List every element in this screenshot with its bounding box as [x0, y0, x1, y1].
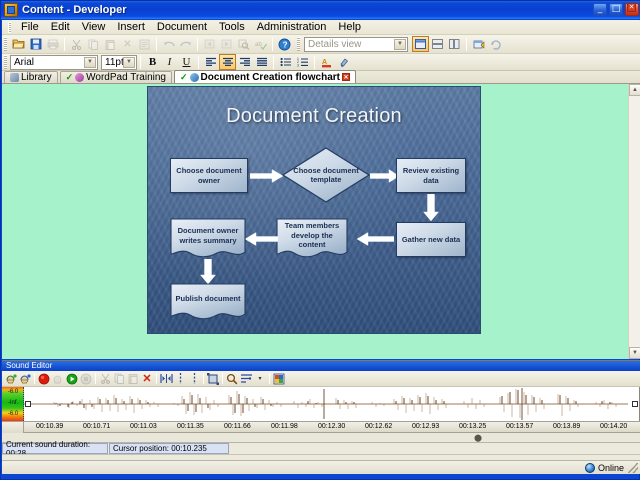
append-sound-icon[interactable] — [18, 372, 32, 386]
sound-toolbar-separator — [156, 373, 157, 384]
refresh-icon — [487, 36, 504, 52]
sound-editor-title: Sound Editor — [2, 361, 640, 371]
toolbar-grip-2[interactable] — [297, 37, 300, 51]
sound-editor-panel: Sound Editor — [2, 360, 640, 460]
flow-node-label: Team members develop the content — [276, 218, 348, 253]
vertical-split-view-icon[interactable] — [446, 36, 463, 52]
insert-marker-icon[interactable] — [173, 372, 187, 386]
align-center-icon[interactable] — [219, 54, 236, 70]
ruler-tick: 00:10.39 — [36, 423, 63, 430]
flow-node-label: Gather new data — [402, 235, 460, 244]
menu-item-tools[interactable]: Tools — [213, 20, 251, 34]
chevron-down-icon[interactable]: ▼ — [84, 57, 96, 68]
flow-node-choose-document-owner[interactable]: Choose document owner — [170, 158, 248, 193]
copy-icon — [112, 372, 126, 386]
menu-item-insert[interactable]: Insert — [111, 20, 151, 34]
back-icon — [201, 36, 218, 52]
undo-icon — [160, 36, 177, 52]
db-label-middle: -Inf. — [2, 400, 24, 406]
ruler-tick: 00:14.20 — [600, 423, 627, 430]
flowchart-title: Document Creation — [148, 105, 480, 128]
tab-library[interactable]: Library — [4, 71, 58, 83]
properties-icon[interactable] — [272, 372, 286, 386]
help-icon[interactable]: ? — [276, 36, 293, 52]
dropdown-icon[interactable]: ▾ — [253, 372, 267, 386]
properties-icon — [136, 36, 153, 52]
flow-node-label: Review existing data — [399, 166, 463, 185]
toolbar-separator — [140, 56, 141, 69]
open-icon[interactable] — [10, 36, 27, 52]
flow-arrow-gather-to-team — [356, 232, 394, 249]
menu-bar: File Edit View Insert Document Tools Adm… — [2, 20, 640, 35]
toolbar-separator — [314, 56, 315, 69]
find-icon — [235, 36, 252, 52]
sound-editor-status: Current sound duration: 00:28 Cursor pos… — [2, 443, 640, 454]
maximize-button[interactable]: □ — [609, 3, 623, 16]
db-label-top: -6.0 — [2, 389, 24, 395]
main-toolbar: ✕ ab ? Details view ▼ — [2, 35, 640, 54]
ruler-tick: 00:12.62 — [365, 423, 392, 430]
toolbar-separator — [273, 56, 274, 69]
bullet-list-icon[interactable] — [277, 54, 294, 70]
library-icon — [10, 73, 19, 82]
flow-node-choose-document-template[interactable]: Choose document template — [282, 147, 370, 203]
record-icon[interactable] — [37, 372, 51, 386]
waveform-display[interactable] — [24, 387, 640, 421]
pause-icon — [51, 372, 65, 386]
flow-node-document-owner-writes-summary[interactable]: Document owner writes summary — [170, 218, 246, 262]
toolbar-separator — [272, 38, 273, 51]
app-icon — [4, 3, 18, 17]
font-family-value: Arial — [14, 57, 34, 68]
copy-icon — [85, 36, 102, 52]
cut-icon — [68, 36, 85, 52]
check-icon: ✓ — [66, 72, 74, 83]
numbered-list-icon[interactable]: 123 — [294, 54, 311, 70]
ruler-tick: 00:11.03 — [130, 423, 157, 430]
redo-icon — [177, 36, 194, 52]
flow-arrow-owner-to-template — [250, 169, 284, 186]
italic-icon[interactable]: I — [161, 54, 178, 70]
flow-node-publish-document[interactable]: Publish document — [170, 283, 246, 323]
ruler-tick: 00:12.30 — [318, 423, 345, 430]
flow-arrow-review-to-gather — [422, 194, 440, 225]
svg-text:A: A — [322, 59, 327, 66]
save-icon[interactable] — [27, 36, 44, 52]
view-mode-combo[interactable]: Details view ▼ — [304, 37, 408, 52]
content-vertical-scrollbar[interactable]: ▲ ▼ — [628, 84, 640, 359]
marker-list-icon[interactable] — [187, 372, 201, 386]
menu-item-help[interactable]: Help — [332, 20, 367, 34]
stop-icon — [79, 372, 93, 386]
flow-arrow-team-to-summary — [244, 232, 278, 249]
cursor-position-status: Cursor position: 00:10.235 — [109, 443, 229, 454]
document-tab-strip: Library ✓ WordPad Training ✓ Document Cr… — [2, 71, 640, 84]
menu-item-file[interactable]: File — [15, 20, 45, 34]
zoom-icon[interactable] — [225, 372, 239, 386]
view-mode-value: Details view — [308, 39, 361, 50]
bold-icon[interactable]: B — [144, 54, 161, 70]
flowchart-slide: Document Creation Choose document owner … — [147, 86, 481, 334]
print-icon — [44, 36, 61, 52]
sound-editor-toolbar: ✕ ▾ — [2, 371, 640, 387]
format-toolbar-grip[interactable] — [4, 55, 7, 69]
application-status-bar: Online — [2, 460, 640, 474]
paste-icon — [126, 372, 140, 386]
training-icon — [75, 73, 84, 82]
time-ruler[interactable]: 00:10.39 00:10.71 00:11.03 00:11.35 00:1… — [2, 421, 640, 433]
scroll-thumb-icon[interactable]: ⬤ — [472, 433, 484, 443]
close-all-tabs-icon[interactable]: ✕ — [627, 3, 636, 12]
flow-node-label: Publish document — [170, 283, 246, 315]
sound-toolbar-separator — [222, 373, 223, 384]
flow-node-gather-new-data[interactable]: Gather new data — [396, 222, 466, 257]
flow-node-label: Document owner writes summary — [170, 218, 246, 253]
font-color-icon[interactable]: A — [318, 54, 335, 70]
svg-text:3: 3 — [297, 63, 299, 67]
flow-node-team-members-develop-content[interactable]: Team members develop the content — [276, 218, 348, 262]
chevron-down-icon[interactable]: ▼ — [394, 39, 406, 50]
toolbar-separator — [198, 56, 199, 69]
menu-item-edit[interactable]: Edit — [45, 20, 76, 34]
menu-item-document[interactable]: Document — [151, 20, 213, 34]
toolbar-separator — [156, 38, 157, 51]
tab-label: Document Creation flowchart — [201, 72, 340, 83]
tab-document-creation-flowchart[interactable]: ✓ Document Creation flowchart ✕ — [174, 70, 356, 83]
crop-icon[interactable] — [206, 372, 220, 386]
zoom-level-icon[interactable] — [239, 372, 253, 386]
title-bar: Content - Developer _ □ ✕ — [1, 1, 640, 19]
ruler-tick: 00:12.93 — [412, 423, 439, 430]
delete-icon[interactable]: ✕ — [140, 372, 154, 386]
sound-toolbar-separator — [34, 373, 35, 384]
sound-toolbar-separator — [269, 373, 270, 384]
align-left-icon[interactable] — [202, 54, 219, 70]
font-family-combo[interactable]: Arial ▼ — [10, 55, 98, 70]
sound-toolbar-separator — [95, 373, 96, 384]
status-online-label: Online — [598, 463, 624, 473]
toolbar-separator — [466, 38, 467, 51]
scroll-down-icon[interactable]: ▼ — [629, 347, 640, 359]
sound-duration-status: Current sound duration: 00:28 — [2, 443, 108, 454]
tab-close-icon[interactable]: ✕ — [342, 73, 350, 81]
font-size-combo[interactable]: 11pt ▼ — [101, 55, 137, 70]
flowchart-icon — [190, 73, 199, 82]
ruler-tick: 00:11.35 — [177, 423, 204, 430]
minimize-button[interactable]: _ — [593, 3, 607, 16]
spellcheck-icon: ab — [252, 36, 269, 52]
highlight-color-icon[interactable] — [335, 54, 352, 70]
resize-grip[interactable] — [628, 463, 638, 473]
select-all-icon[interactable] — [159, 372, 173, 386]
scroll-up-icon[interactable]: ▲ — [629, 84, 640, 96]
chevron-down-icon[interactable]: ▼ — [123, 57, 135, 68]
tab-label: WordPad Training — [86, 72, 166, 83]
flow-node-label: Choose document template — [282, 147, 370, 203]
selection-start-handle[interactable] — [25, 401, 31, 407]
cut-icon — [98, 372, 112, 386]
toolbar-separator — [197, 38, 198, 51]
horizontal-split-view-icon[interactable] — [429, 36, 446, 52]
insert-sound-icon[interactable] — [4, 372, 18, 386]
menu-item-administration[interactable]: Administration — [251, 20, 333, 34]
properties-window-icon[interactable] — [470, 36, 487, 52]
selection-end-handle[interactable] — [632, 401, 638, 407]
font-size-value: 11pt — [105, 57, 124, 68]
application-window: Content - Developer _ □ ✕ File Edit View… — [0, 0, 640, 480]
menu-grip[interactable] — [8, 22, 11, 33]
formatting-toolbar: Arial ▼ 11pt ▼ B I U 123 — [2, 54, 640, 71]
svg-text:?: ? — [283, 40, 288, 49]
tab-wordpad-training[interactable]: ✓ WordPad Training — [60, 71, 172, 83]
forward-icon — [218, 36, 235, 52]
ruler-tick: 00:11.98 — [271, 423, 298, 430]
status-badge: Online — [585, 463, 624, 473]
ruler-tick: 00:13.57 — [506, 423, 533, 430]
sound-toolbar-separator — [203, 373, 204, 384]
check-icon: ✓ — [180, 72, 188, 83]
play-icon[interactable] — [65, 372, 79, 386]
globe-icon — [585, 463, 595, 473]
align-justify-icon[interactable] — [253, 54, 270, 70]
ruler-tick: 00:13.89 — [553, 423, 580, 430]
tab-label: Library — [21, 72, 52, 83]
paste-icon — [102, 36, 119, 52]
align-right-icon[interactable] — [236, 54, 253, 70]
waveform-graphic — [24, 387, 628, 421]
toolbar-separator — [64, 38, 65, 51]
db-level-meter: -6.0 -Inf. -6.0 — [2, 387, 24, 421]
toolbar-grip[interactable] — [4, 37, 7, 51]
ruler-tick: 00:11.66 — [224, 423, 251, 430]
waveform-row: -6.0 -Inf. -6.0 — [2, 387, 640, 421]
db-label-bottom: -6.0 — [2, 411, 24, 417]
flow-node-label: Choose document owner — [173, 166, 245, 185]
delete-icon: ✕ — [119, 36, 136, 52]
underline-icon[interactable]: U — [178, 54, 195, 70]
single-pane-view-icon[interactable] — [412, 36, 429, 52]
menu-item-view[interactable]: View — [76, 20, 112, 34]
ruler-tick: 00:10.71 — [83, 423, 110, 430]
flow-node-review-existing-data[interactable]: Review existing data — [396, 158, 466, 193]
window-title: Content - Developer — [22, 4, 127, 16]
ruler-tick: 00:13.25 — [459, 423, 486, 430]
